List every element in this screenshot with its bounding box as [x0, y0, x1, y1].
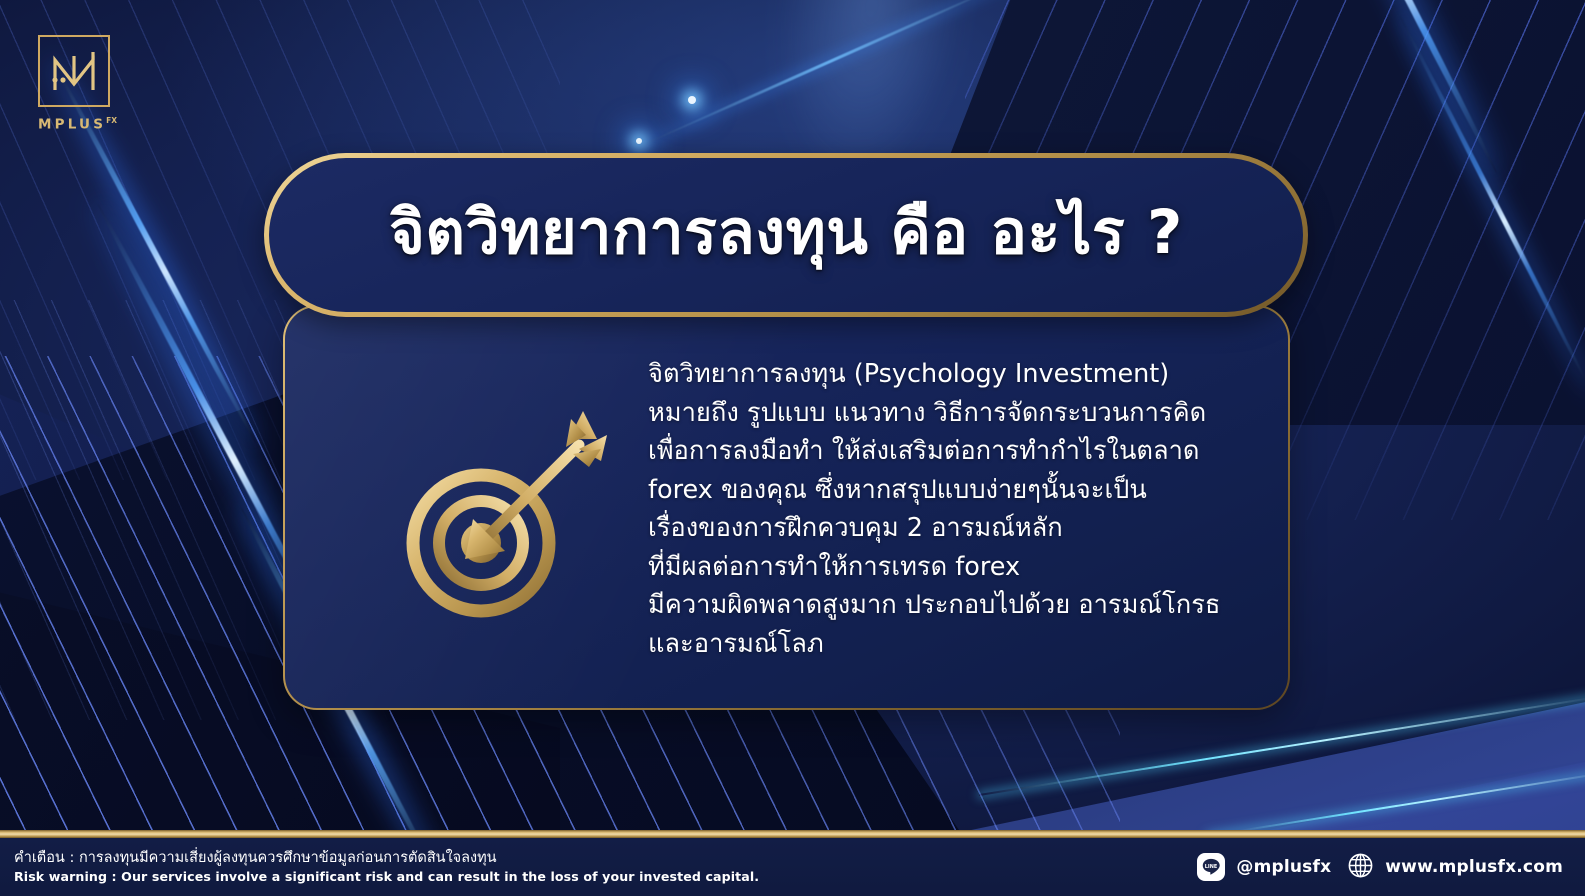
wordmark-text: MPLUS — [38, 117, 106, 133]
line-id-label: @mplusfx — [1236, 857, 1331, 877]
body-paragraph: จิตวิทยาการลงทุน (Psychology Investment)… — [648, 355, 1268, 663]
brand-wordmark: MPLUSFX — [38, 116, 134, 133]
bg-light-beam-4 — [1280, 0, 1500, 174]
body-line: เพื่อการลงมือทำ ให้ส่งเสริมต่อการทำกำไรใ… — [648, 432, 1268, 471]
poster-canvas: MPLUSFX จิตวิทยาการลงทุน คือ อะไร ? — [0, 0, 1585, 896]
brand-logo: MPLUSFX — [38, 35, 134, 133]
bg-light-beam-5 — [1397, 14, 1585, 390]
m-monogram-icon — [38, 35, 110, 107]
bg-sparkle-1 — [688, 96, 696, 104]
bg-light-beam-6 — [638, 0, 1023, 148]
risk-warning-thai: คำเตือน : การลงทุนมีความเสี่ยงผู้ลงทุนคว… — [14, 849, 759, 868]
page-title: จิตวิทยาการลงทุน คือ อะไร ? — [389, 202, 1183, 269]
risk-warning-english: Risk warning : Our services involve a si… — [14, 868, 759, 885]
body-line: ที่มีผลต่อการทำให้การเทรด forex — [648, 548, 1268, 587]
title-banner-inner: จิตวิทยาการลงทุน คือ อะไร ? — [269, 158, 1303, 312]
card-content: จิตวิทยาการลงทุน (Psychology Investment)… — [283, 305, 1290, 710]
globe-icon — [1347, 852, 1374, 883]
target-arrow-icon — [383, 395, 623, 635]
footer-contacts: LINE @mplusfx www.mplusfx.com — [1197, 852, 1563, 883]
bg-cyan-edge-2 — [1207, 769, 1585, 837]
website-url-label: www.mplusfx.com — [1385, 857, 1563, 877]
body-line: และอารมณ์โลภ — [648, 625, 1268, 664]
body-line: หมายถึง รูปแบบ แนวทาง วิธีการจัดกระบวนกา… — [648, 394, 1268, 433]
bg-sparkle-2 — [636, 138, 642, 144]
body-line: forex ของคุณ ซึ่งหากสรุปแบบง่ายๆนั้นจะเป… — [648, 471, 1268, 510]
svg-text:LINE: LINE — [1205, 864, 1218, 870]
body-line: จิตวิทยาการลงทุน (Psychology Investment) — [648, 355, 1268, 394]
wordmark-superscript: FX — [106, 116, 117, 125]
bg-polygon-bottom-right-2 — [1185, 698, 1585, 848]
body-line: มีความผิดพลาดสูงมาก ประกอบไปด้วย อารมณ์โ… — [648, 586, 1268, 625]
risk-warning-block: คำเตือน : การลงทุนมีความเสี่ยงผู้ลงทุนคว… — [14, 849, 759, 885]
contact-line[interactable]: LINE @mplusfx — [1197, 853, 1331, 881]
footer-bar: คำเตือน : การลงทุนมีความเสี่ยงผู้ลงทุนคว… — [0, 838, 1585, 896]
title-banner: จิตวิทยาการลงทุน คือ อะไร ? — [264, 153, 1308, 317]
contact-website[interactable]: www.mplusfx.com — [1347, 852, 1563, 883]
body-line: เรื่องของการฝึกควบคุม 2 อารมณ์หลัก — [648, 509, 1268, 548]
line-app-icon: LINE — [1197, 853, 1225, 881]
